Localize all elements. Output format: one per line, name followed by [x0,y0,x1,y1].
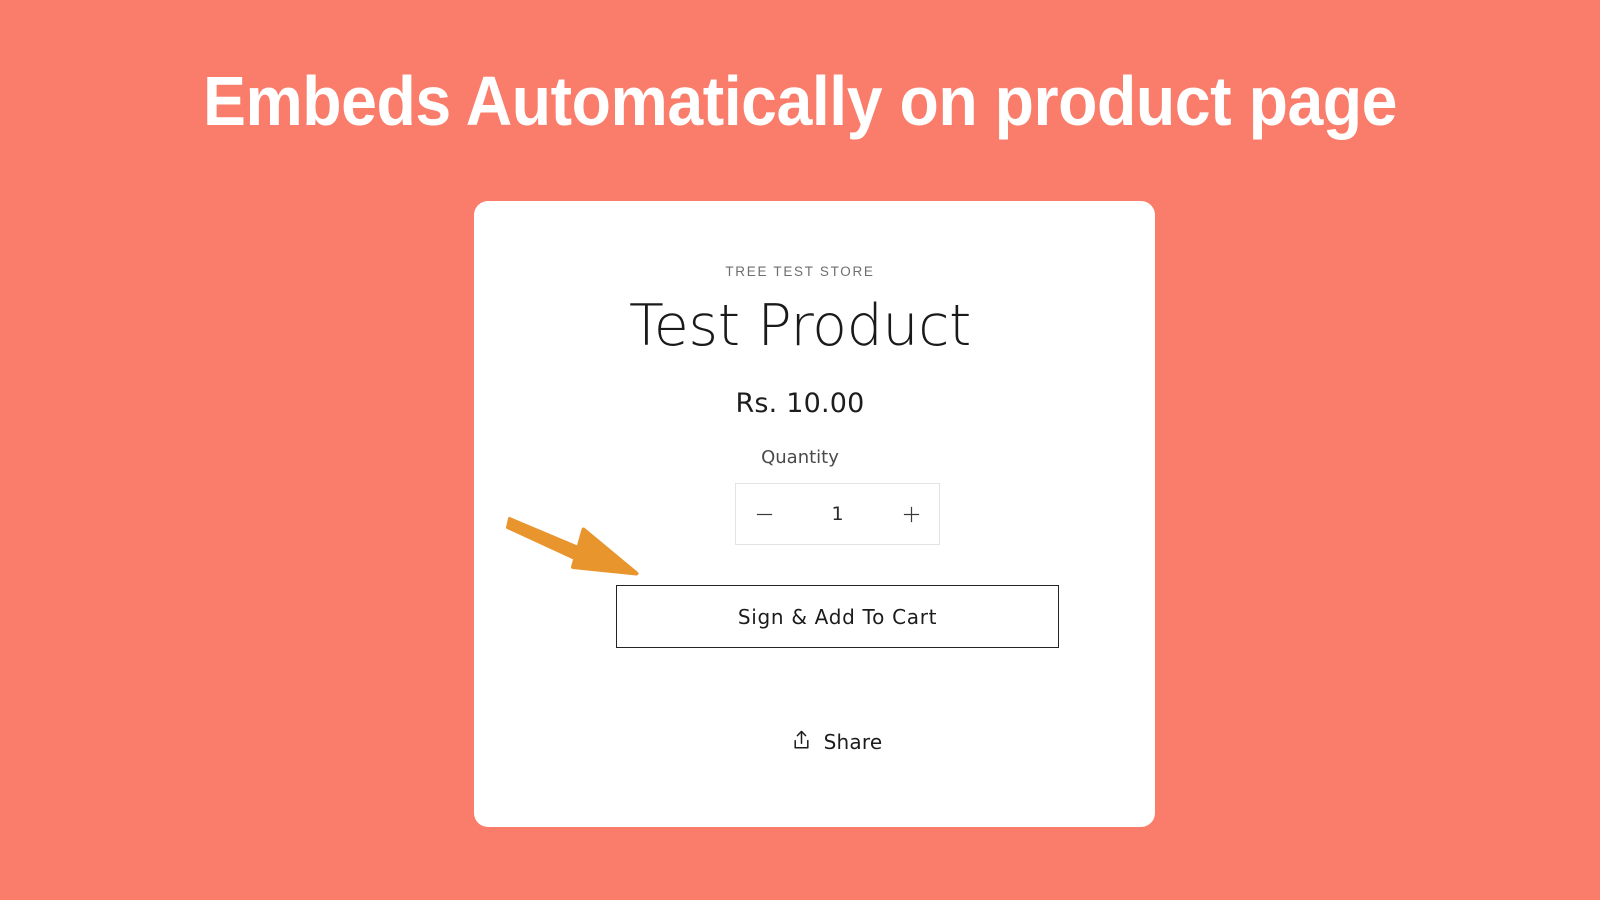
product-price: Rs. 10.00 [0,388,1600,419]
quantity-increase-button[interactable] [883,484,939,544]
share-button[interactable]: Share [474,722,1199,762]
quantity-decrease-button[interactable] [736,484,792,544]
minus-icon [755,505,774,524]
quantity-label: Quantity [0,447,1600,468]
product-title: Test Product [0,294,1600,358]
sign-and-add-to-cart-button[interactable]: Sign & Add To Cart [616,585,1059,648]
page-headline: Embeds Automatically on product page [64,58,1536,144]
share-upload-icon [791,729,812,756]
plus-icon [902,505,921,524]
quantity-value[interactable]: 1 [792,503,883,525]
store-vendor-name: Tree Test Store [0,264,1600,279]
share-label: Share [824,730,883,754]
quantity-stepper[interactable]: 1 [735,483,940,545]
